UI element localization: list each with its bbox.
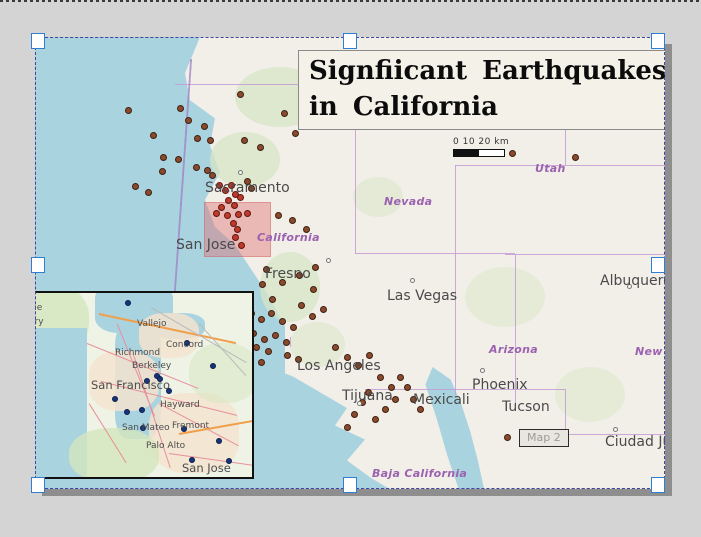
inset-city-label: Berkeley	[132, 361, 171, 371]
earthquake-marker[interactable]	[283, 339, 290, 346]
city-label: Tucson	[502, 399, 550, 415]
earthquake-marker[interactable]	[265, 348, 272, 355]
earthquake-marker[interactable]	[284, 352, 291, 359]
earthquake-marker[interactable]	[238, 242, 245, 249]
city-label: Mexicali	[413, 392, 470, 408]
inset-city-label: Vallejo	[137, 319, 167, 329]
inset-earthquake-marker[interactable]	[125, 300, 131, 306]
handle-mid-left[interactable]	[31, 257, 45, 273]
earthquake-marker[interactable]	[209, 172, 216, 179]
map-title-box[interactable]: Signfiicant Earthquakes in California	[298, 50, 665, 130]
state-boundary	[355, 253, 515, 254]
earthquake-marker[interactable]	[213, 210, 220, 217]
earthquake-marker[interactable]	[177, 105, 184, 112]
city-point	[613, 427, 618, 432]
earthquake-marker[interactable]	[310, 286, 317, 293]
earthquake-marker[interactable]	[572, 154, 579, 161]
city-label: Phoenix	[472, 377, 528, 393]
handle-mid-right[interactable]	[651, 257, 665, 273]
scale-bar-graphic	[453, 149, 505, 157]
country-boundary	[565, 389, 566, 434]
earthquake-marker[interactable]	[218, 204, 225, 211]
earthquake-marker[interactable]	[237, 91, 244, 98]
handle-bottom-left[interactable]	[31, 477, 45, 493]
inset-city-label: ne	[35, 303, 42, 313]
earthquake-marker[interactable]	[258, 359, 265, 366]
handle-top-right[interactable]	[651, 33, 665, 49]
earthquake-marker[interactable]	[272, 332, 279, 339]
inset-earthquake-marker[interactable]	[210, 363, 216, 369]
city-label: Las Vegas	[387, 288, 457, 304]
earthquake-marker[interactable]	[509, 150, 516, 157]
state-label: Baja California	[372, 467, 467, 480]
earthquake-marker[interactable]	[224, 212, 231, 219]
earthquake-marker[interactable]	[404, 384, 411, 391]
inset-city-label: Hayward	[160, 400, 200, 410]
earthquake-marker[interactable]	[185, 117, 192, 124]
city-point	[238, 170, 243, 175]
earthquake-marker[interactable]	[351, 411, 358, 418]
earthquake-marker[interactable]	[290, 324, 297, 331]
city-label: Los Angeles	[297, 358, 381, 374]
earthquake-marker[interactable]	[320, 306, 327, 313]
earthquake-marker[interactable]	[309, 313, 316, 320]
inset-earthquake-marker[interactable]	[124, 409, 130, 415]
map-name-tag[interactable]: Map 2	[519, 429, 569, 447]
inset-city-label: San Mateo	[122, 423, 170, 433]
earthquake-marker[interactable]	[377, 374, 384, 381]
earthquake-marker[interactable]	[382, 406, 389, 413]
earthquake-marker[interactable]	[125, 107, 132, 114]
earthquake-marker[interactable]	[281, 110, 288, 117]
earthquake-marker[interactable]	[175, 156, 182, 163]
earthquake-marker[interactable]	[241, 137, 248, 144]
state-boundary	[505, 254, 665, 255]
earthquake-marker[interactable]	[159, 168, 166, 175]
earthquake-marker[interactable]	[235, 211, 242, 218]
earthquake-marker[interactable]	[244, 210, 251, 217]
state-label: New Mexico	[635, 345, 665, 358]
earthquake-marker[interactable]	[145, 189, 152, 196]
earthquake-marker[interactable]	[261, 336, 268, 343]
handle-top-left[interactable]	[31, 33, 45, 49]
ruler-guide	[0, 0, 701, 2]
inset-earthquake-marker[interactable]	[216, 438, 222, 444]
earthquake-marker[interactable]	[225, 197, 232, 204]
earthquake-marker[interactable]	[150, 132, 157, 139]
city-label: San Jose	[176, 237, 235, 253]
city-label: Ciudad Ju	[605, 434, 665, 450]
earthquake-marker[interactable]	[258, 316, 265, 323]
earthquake-marker[interactable]	[372, 416, 379, 423]
city-label: Sacramento	[205, 180, 290, 196]
state-label: California	[257, 231, 320, 244]
map-title-text: Signfiicant Earthquakes in California	[309, 53, 665, 125]
city-label: Tijuana	[342, 388, 393, 404]
handle-top-center[interactable]	[343, 33, 357, 49]
state-label: Utah	[535, 162, 566, 175]
earthquake-marker[interactable]	[132, 183, 139, 190]
earthquake-marker[interactable]	[312, 264, 319, 271]
inset-city-label: ory	[35, 317, 44, 327]
handle-bottom-center[interactable]	[343, 477, 357, 493]
inset-city-label: Fremont	[172, 421, 209, 431]
earthquake-marker[interactable]	[397, 374, 404, 381]
earthquake-marker[interactable]	[292, 130, 299, 137]
city-label: Albuquerque	[600, 273, 665, 289]
earthquake-marker[interactable]	[275, 212, 282, 219]
city-point	[480, 368, 485, 373]
main-map-canvas[interactable]: CaliforniaNevadaUtahArizonaColoradoNew M…	[35, 37, 665, 489]
earthquake-marker[interactable]	[268, 310, 275, 317]
handle-bottom-right[interactable]	[651, 477, 665, 493]
inset-earthquake-marker[interactable]	[139, 407, 145, 413]
state-boundary	[455, 165, 456, 395]
inset-map[interactable]: VallejoConcordRichmondBerkeleySan Franci…	[35, 291, 254, 479]
inset-landcover	[69, 428, 159, 479]
inset-city-label: San Jose	[182, 461, 231, 475]
state-label: Nevada	[384, 195, 432, 208]
city-label: Fresno	[265, 266, 311, 282]
map-layout-editor: CaliforniaNevadaUtahArizonaColoradoNew M…	[0, 0, 701, 537]
state-boundary	[290, 337, 291, 347]
earthquake-marker[interactable]	[160, 154, 167, 161]
inset-city-label: Palo Alto	[146, 441, 185, 451]
earthquake-marker[interactable]	[298, 302, 305, 309]
earthquake-marker[interactable]	[332, 344, 339, 351]
earthquake-marker[interactable]	[344, 424, 351, 431]
inset-city-label: Concord	[166, 340, 203, 350]
earthquake-marker[interactable]	[193, 164, 200, 171]
scale-bar-labels: 0 10 20 km	[453, 137, 509, 147]
earthquake-marker[interactable]	[194, 135, 201, 142]
landcover-patch	[465, 267, 545, 327]
earthquake-marker[interactable]	[201, 123, 208, 130]
earthquake-marker[interactable]	[269, 296, 276, 303]
earthquake-marker[interactable]	[231, 202, 238, 209]
city-point	[410, 278, 415, 283]
country-boundary	[365, 389, 565, 390]
city-point	[326, 258, 331, 263]
inset-city-label: Richmond	[115, 348, 160, 358]
earthquake-marker[interactable]	[504, 434, 511, 441]
map-frame[interactable]: CaliforniaNevadaUtahArizonaColoradoNew M…	[35, 37, 665, 489]
state-label: Arizona	[489, 343, 538, 356]
scale-bar: 0 10 20 km	[453, 137, 509, 157]
earthquake-marker[interactable]	[207, 137, 214, 144]
inset-earthquake-marker[interactable]	[112, 396, 118, 402]
inset-city-label: San Francisco	[91, 378, 170, 392]
earthquake-marker[interactable]	[289, 217, 296, 224]
earthquake-marker[interactable]	[279, 318, 286, 325]
earthquake-marker[interactable]	[234, 226, 241, 233]
earthquake-marker[interactable]	[257, 144, 264, 151]
